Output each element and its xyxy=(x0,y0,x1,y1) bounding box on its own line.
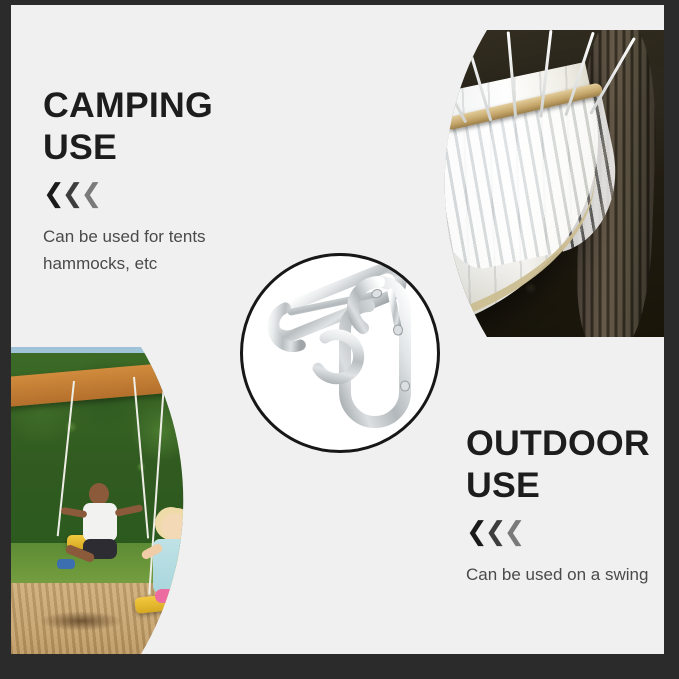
hammock-ropes xyxy=(419,30,615,126)
hammock-rope xyxy=(539,30,552,118)
canvas-panel: CAMPING USE ❮ ❮ ❮ Can be used for tents … xyxy=(11,5,664,654)
outdoor-headline: OUTDOOR USE xyxy=(466,423,652,507)
child-shorts xyxy=(155,589,197,603)
child-head xyxy=(89,483,109,505)
chevron-left-icon: ❮ xyxy=(504,521,526,543)
child-shirt xyxy=(243,625,273,654)
child-shorts xyxy=(333,511,363,537)
hammock-rope xyxy=(464,36,492,121)
outdoor-subtext: Can be used on a swing xyxy=(466,561,648,588)
child-leg xyxy=(187,600,208,646)
child-shoe xyxy=(57,559,75,569)
product-infographic: CAMPING USE ❮ ❮ ❮ Can be used for tents … xyxy=(0,0,679,679)
wood-chip-ground xyxy=(11,583,441,654)
child-shirt xyxy=(304,639,336,654)
outdoor-text-block: OUTDOOR USE ❮ ❮ ❮ Can be used on a swing xyxy=(466,423,648,588)
carabiner-illustration xyxy=(243,256,440,453)
child-shirt xyxy=(83,503,117,541)
camping-chevrons: ❮ ❮ ❮ xyxy=(43,183,210,205)
child-head xyxy=(161,513,187,540)
child-helmet xyxy=(337,453,357,475)
camping-text-block: CAMPING USE ❮ ❮ ❮ Can be used for tents … xyxy=(43,85,210,277)
camping-headline: CAMPING USE xyxy=(43,85,213,169)
child-shirt xyxy=(331,474,365,514)
hammock-rope xyxy=(564,32,595,116)
child-head xyxy=(309,619,329,641)
child-arm xyxy=(320,478,341,491)
hammock-rope xyxy=(507,31,518,119)
hammock-rope xyxy=(423,45,467,124)
swing-seat-back xyxy=(193,585,219,623)
child-arm xyxy=(188,542,212,560)
product-closeup-circle xyxy=(240,253,440,453)
hammock-rope xyxy=(383,56,442,125)
playset-stairs xyxy=(325,533,441,654)
chevron-left-icon: ❮ xyxy=(81,183,103,205)
child-leg xyxy=(166,600,191,648)
child-head xyxy=(247,605,267,627)
camping-subtext: Can be used for tents hammocks, etc xyxy=(43,223,210,277)
carabiner-gate-overlap xyxy=(306,326,367,387)
outdoor-chevrons: ❮ ❮ ❮ xyxy=(466,521,648,543)
